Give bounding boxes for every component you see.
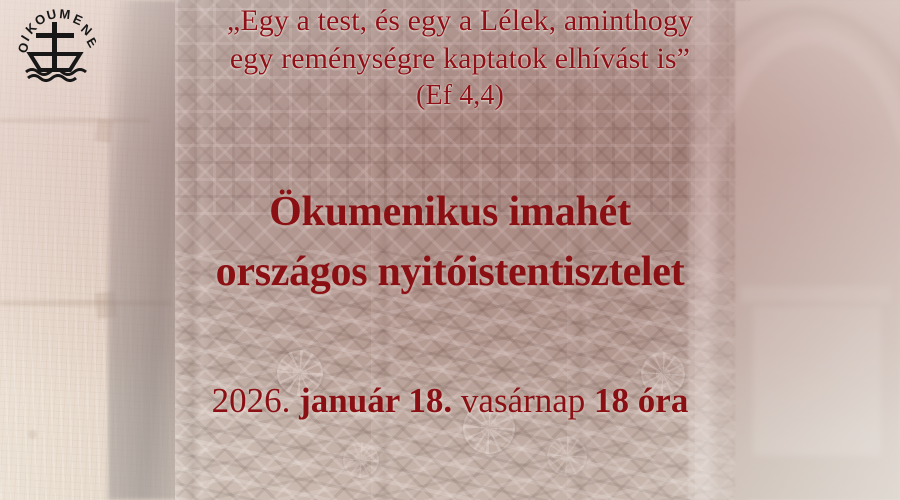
oikoumene-logo: O I K O U M E N E xyxy=(12,2,96,82)
poster-canvas: O I K O U M E N E xyxy=(0,0,900,500)
svg-text:U: U xyxy=(45,6,58,23)
quote-line-1: „Egy a test, és egy a Lélek, aminthogy xyxy=(110,2,810,40)
title-line-2: országos nyitóistentisztelet xyxy=(0,242,900,302)
poster-content: O I K O U M E N E xyxy=(0,0,900,500)
event-datetime: 2026. január 18. vasárnap 18 óra xyxy=(0,378,900,424)
scripture-reference: (Ef 4,4) xyxy=(110,78,810,114)
cross-bar xyxy=(36,33,74,38)
event-time: 18 óra xyxy=(594,381,688,420)
wave-line xyxy=(28,76,76,81)
title-line-1: Ökumenikus imahét xyxy=(269,189,631,235)
event-weekday: vasárnap xyxy=(461,381,585,420)
quote-line-2: egy reménységre kaptatok elhívást is” xyxy=(110,40,810,78)
cross-mast xyxy=(52,22,57,70)
scripture-quote: „Egy a test, és egy a Lélek, aminthogy e… xyxy=(110,2,810,114)
event-title: Ökumenikus imahét országos nyitóistentis… xyxy=(0,182,900,302)
event-day: január 18. xyxy=(299,381,452,420)
event-year: 2026. xyxy=(212,381,291,420)
svg-text:M: M xyxy=(59,6,71,22)
